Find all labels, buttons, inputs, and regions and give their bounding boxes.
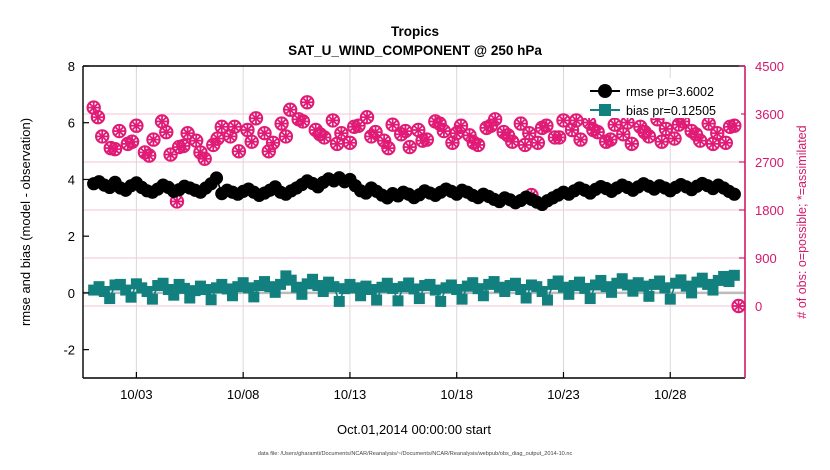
bias-marker (328, 281, 339, 292)
obs-marker (570, 114, 582, 126)
obs-marker (587, 124, 599, 136)
bias-marker (521, 293, 532, 304)
obs-marker (250, 112, 262, 124)
obs-marker (468, 137, 480, 149)
obs-marker (720, 137, 732, 149)
obs-marker (331, 138, 343, 150)
obs-marker (344, 137, 356, 149)
bias-marker (414, 293, 425, 304)
bias-marker (643, 291, 654, 302)
x-tick-label: 10/18 (440, 387, 473, 402)
x-axis-label: Oct.01,2014 00:00:00 start (337, 422, 491, 437)
bias-marker (168, 290, 179, 301)
obs-marker (604, 133, 616, 145)
bias-marker (371, 295, 382, 306)
y2-tick-label: 2700 (755, 155, 784, 170)
obs-marker (361, 111, 373, 123)
obs-marker (416, 134, 428, 146)
bias-marker (147, 294, 158, 305)
obs-marker (113, 125, 125, 137)
y2-tick-label: 3600 (755, 107, 784, 122)
obs-marker (399, 125, 411, 137)
obs-marker (301, 96, 313, 108)
obs-marker (177, 140, 189, 152)
obs-marker (228, 121, 240, 133)
bias-marker (366, 284, 377, 295)
obs-marker (433, 117, 445, 129)
obs-marker (690, 128, 702, 140)
obs-marker (673, 118, 685, 130)
obs-marker (553, 131, 565, 143)
obs-marker (130, 120, 142, 132)
bias-marker (665, 294, 676, 305)
bias-marker (206, 294, 217, 305)
obs-marker (96, 130, 108, 142)
obs-marker (724, 121, 736, 133)
x-tick-label: 10/28 (654, 387, 687, 402)
bias-marker (409, 283, 420, 294)
bias-marker (579, 283, 590, 294)
bias-marker (585, 293, 596, 304)
y2-tick-label: 900 (755, 251, 777, 266)
bias-marker (318, 286, 329, 297)
bias-marker (430, 285, 441, 296)
obs-marker (109, 143, 121, 155)
legend-bias-marker (599, 104, 611, 116)
x-tick-label: 10/08 (227, 387, 260, 402)
obs-marker (327, 114, 339, 126)
bias-marker (707, 285, 718, 296)
obs-marker (536, 122, 548, 134)
obs-marker (233, 145, 245, 157)
bias-marker (179, 283, 190, 294)
x-tick-label: 10/03 (120, 387, 153, 402)
obs-marker (92, 111, 104, 123)
x-tick-label: 10/23 (547, 387, 580, 402)
bias-marker (686, 287, 697, 298)
bias-marker (126, 292, 137, 303)
obs-marker (147, 133, 159, 145)
legend-rmse-label: rmse pr=3.6002 (626, 85, 714, 99)
bias-marker (248, 291, 259, 302)
obs-marker (160, 126, 172, 138)
obs-marker (365, 130, 377, 142)
bias-marker (392, 295, 403, 306)
obs-marker (263, 145, 275, 157)
obs-marker (626, 138, 638, 150)
obs-marker (519, 139, 531, 151)
y-tick-label: 4 (68, 172, 75, 187)
obs-marker (190, 134, 202, 146)
y2-axis-label: # of obs: o=possible; *=assimilated (795, 125, 809, 318)
bias-marker (296, 289, 307, 300)
plot-root: Tropics SAT_U_WIND_COMPONENT @ 250 hPa 1… (0, 0, 830, 470)
rmse-marker (210, 171, 223, 184)
obs-marker (126, 136, 138, 148)
obs-marker (382, 142, 394, 154)
bias-marker (355, 290, 366, 301)
page-title: Tropics (391, 24, 439, 39)
legend[interactable]: rmse pr=3.6002 bias pr=0.12505 (583, 78, 741, 118)
y-tick-label: -2 (63, 343, 75, 358)
plot-subtitle: SAT_U_WIND_COMPONENT @ 250 hPa (288, 43, 542, 58)
legend-bias-label: bias pr=0.12505 (626, 104, 716, 118)
y2-tick-label: 4500 (755, 59, 784, 74)
bias-marker (200, 284, 211, 295)
bias-marker (542, 295, 553, 306)
legend-rmse-marker (598, 84, 612, 98)
obs-marker (275, 117, 287, 129)
y-tick-label: 8 (68, 59, 75, 74)
obs-marker (532, 137, 544, 149)
y2-tick-label: 1800 (755, 203, 784, 218)
obs-marker (211, 132, 223, 144)
bias-marker (638, 281, 649, 292)
obs-marker (668, 132, 680, 144)
obs-marker (621, 116, 633, 128)
bias-marker (729, 270, 740, 281)
obs-marker (143, 149, 155, 161)
obs-marker (574, 133, 586, 145)
obs-marker (348, 121, 360, 133)
y-tick-label: 6 (68, 116, 75, 131)
y2-tick-label: 0 (755, 299, 762, 314)
obs-marker (404, 141, 416, 153)
obs-marker (707, 138, 719, 150)
x-tick-label: 10/13 (334, 387, 367, 402)
y-axis-label: rmse and bias (model - observation) (18, 118, 33, 326)
bias-marker (104, 293, 115, 304)
data-file-footer: data file: /Users/gharamti/Documents/NCA… (258, 451, 573, 457)
bias-marker (451, 284, 462, 295)
observation-diagnostics-figure: Tropics SAT_U_WIND_COMPONENT @ 250 hPa 1… (0, 0, 830, 470)
obs-marker (485, 120, 497, 132)
obs-marker (314, 128, 326, 140)
obs-marker (502, 129, 514, 141)
obs-marker (297, 115, 309, 127)
obs-marker (656, 136, 668, 148)
bias-marker (435, 296, 446, 307)
obs-marker (280, 130, 292, 142)
bias-marker (387, 283, 398, 294)
obs-marker (241, 124, 253, 136)
obs-marker (451, 127, 463, 139)
rmse-marker (728, 188, 741, 201)
bias-marker (334, 296, 345, 307)
bias-marker (659, 282, 670, 293)
y-tick-label: 2 (68, 229, 75, 244)
obs-marker (638, 126, 650, 138)
obs-marker (246, 136, 258, 148)
bias-marker (478, 290, 489, 301)
bias-marker (457, 294, 468, 305)
y-tick-label: 0 (68, 286, 75, 301)
obs-marker (194, 146, 206, 158)
